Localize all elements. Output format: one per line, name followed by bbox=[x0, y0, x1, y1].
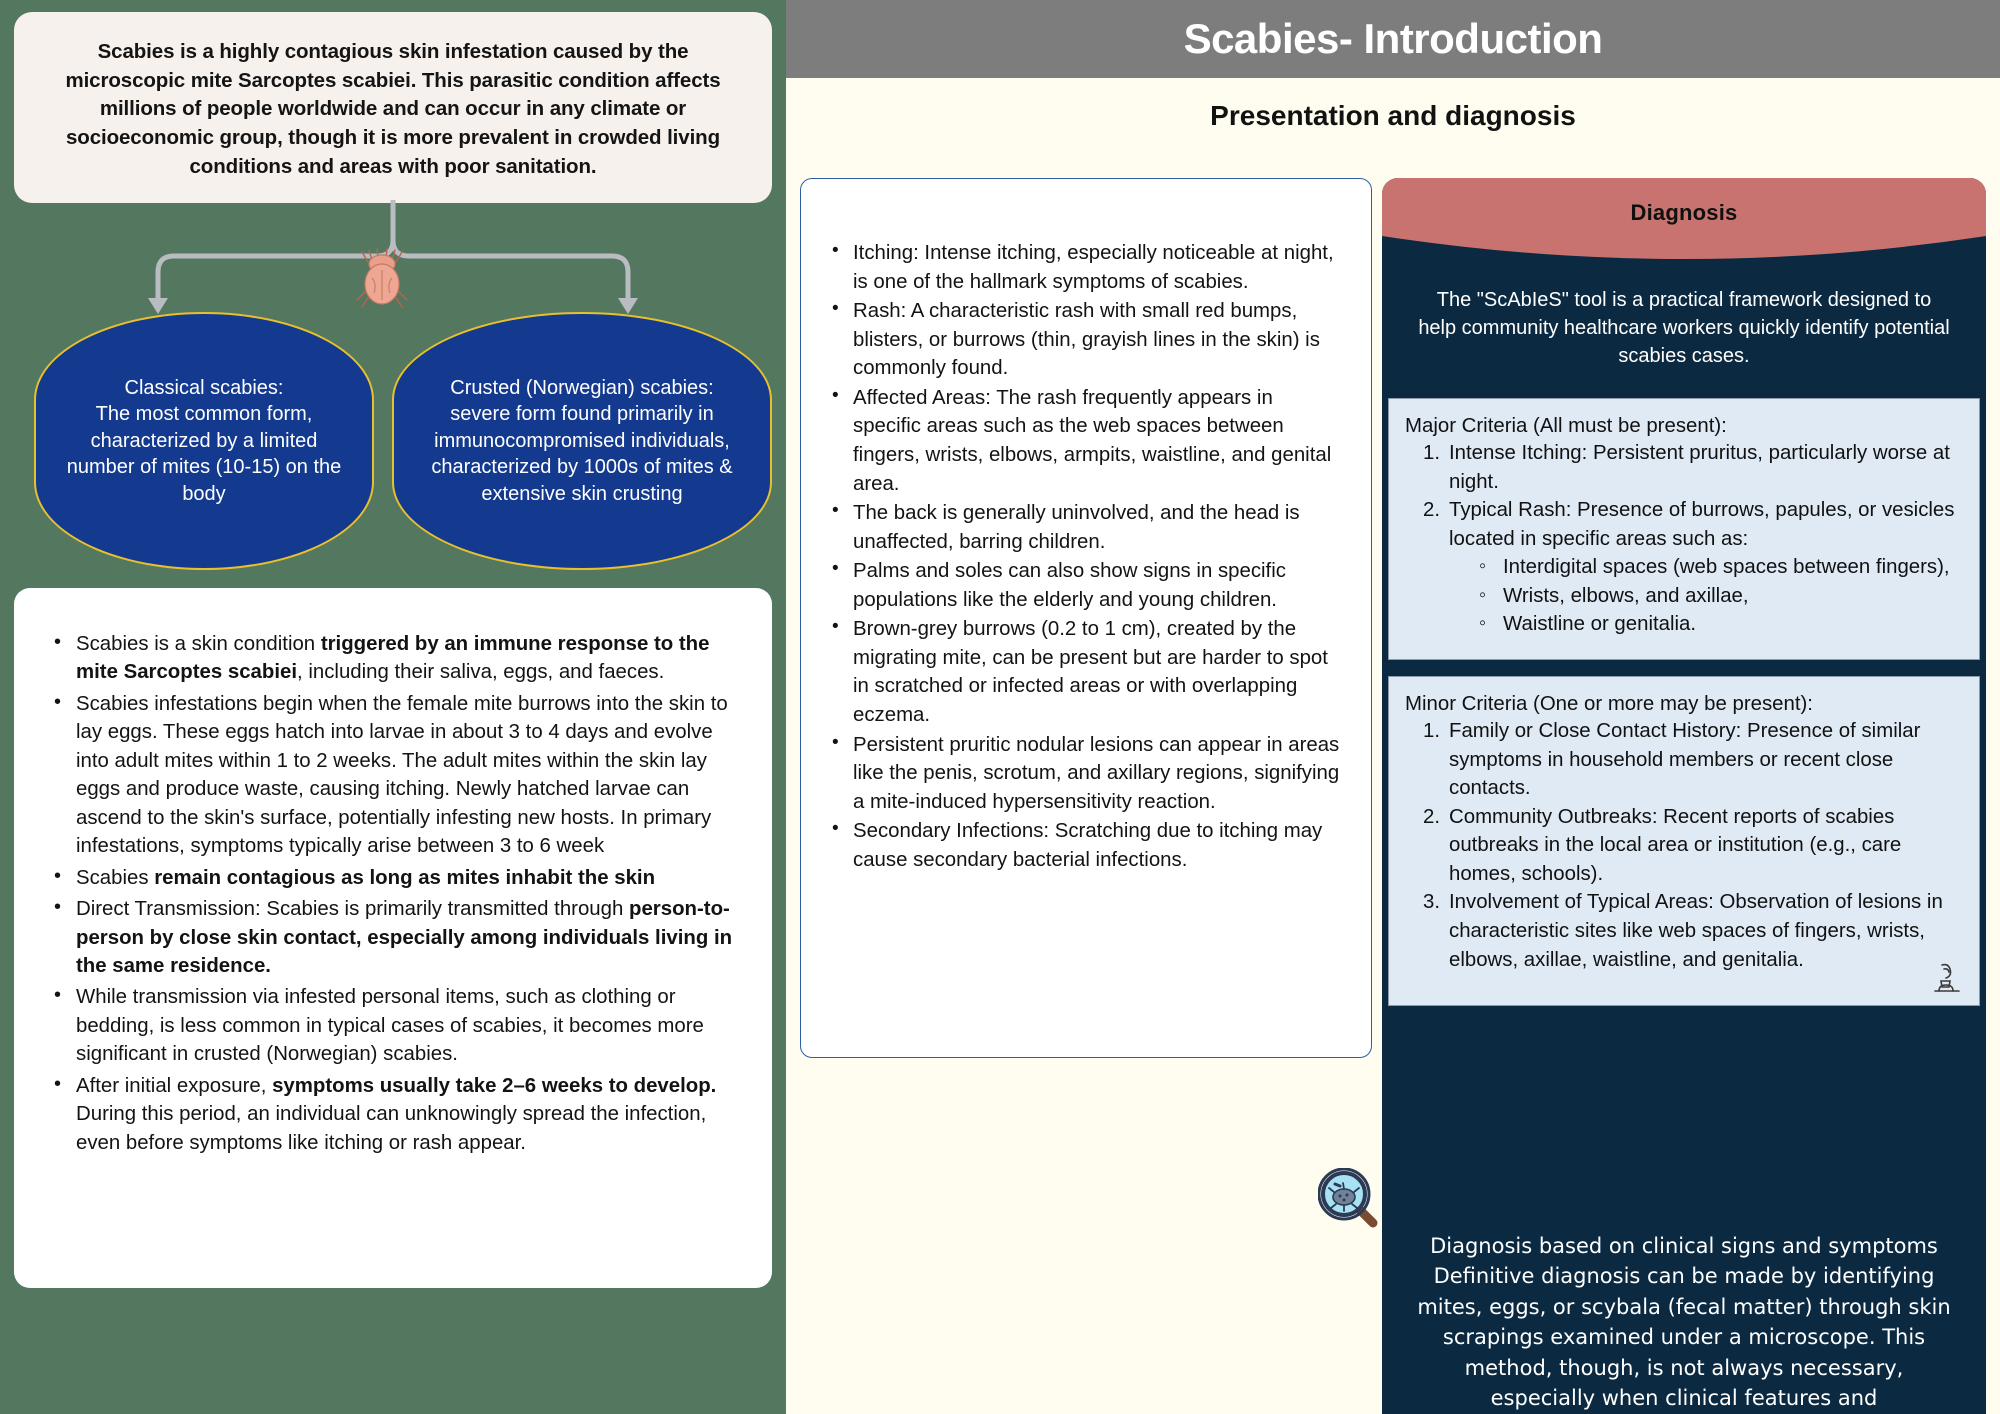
list-item: While transmission via infested personal… bbox=[48, 983, 742, 1068]
mite-icon bbox=[354, 248, 410, 310]
diagnosis-header-banner bbox=[1382, 178, 1986, 274]
oval-classical-text: Classical scabies: The most common form,… bbox=[58, 375, 350, 508]
major-criteria-list: Intense Itching: Persistent pruritus, pa… bbox=[1405, 439, 1961, 639]
intro-text: Scabies is a highly contagious skin infe… bbox=[40, 38, 746, 181]
microscope-icon bbox=[1929, 961, 1963, 997]
list-item: Rash: A characteristic rash with small r… bbox=[827, 297, 1345, 383]
list-item: After initial exposure, symptoms usually… bbox=[48, 1072, 742, 1157]
minor-criteria-block: Minor Criteria (One or more may be prese… bbox=[1388, 676, 1980, 1006]
presentation-card: Itching: Intense itching, especially not… bbox=[800, 178, 1372, 1058]
diagnosis-intro: The "ScAbIeS" tool is a practical framew… bbox=[1382, 274, 1986, 394]
list-item: Direct Transmission: Scabies is primaril… bbox=[48, 895, 742, 980]
list-item: Scabies infestations begin when the fema… bbox=[48, 690, 742, 861]
presentation-bullet-list: Itching: Intense itching, especially not… bbox=[827, 239, 1345, 874]
minor-criteria-heading: Minor Criteria (One or more may be prese… bbox=[1405, 693, 1961, 716]
diagnosis-header-title: Diagnosis bbox=[1382, 200, 1986, 226]
list-item: Palms and soles can also show signs in s… bbox=[827, 557, 1345, 614]
magnifier-microbe-icon bbox=[1318, 1168, 1380, 1230]
criteria-subitem: Wrists, elbows, and axillae, bbox=[1477, 582, 1961, 611]
diagnosis-footer: Diagnosis based on clinical signs and sy… bbox=[1382, 1205, 1986, 1414]
intro-card: Scabies is a highly contagious skin infe… bbox=[14, 12, 772, 203]
left-column: Scabies is a highly contagious skin infe… bbox=[0, 0, 786, 1414]
diagnosis-header: Diagnosis bbox=[1382, 178, 1986, 274]
list-item: Secondary Infections: Scratching due to … bbox=[827, 817, 1345, 874]
left-bullet-list: Scabies is a skin condition triggered by… bbox=[48, 630, 742, 1157]
list-item: Affected Areas: The rash frequently appe… bbox=[827, 384, 1345, 498]
criteria-item: Involvement of Typical Areas: Observatio… bbox=[1423, 888, 1961, 974]
oval-crusted-text: Crusted (Norwegian) scabies: severe form… bbox=[416, 375, 748, 508]
list-item: Scabies is a skin condition triggered by… bbox=[48, 630, 742, 687]
criteria-item: Intense Itching: Persistent pruritus, pa… bbox=[1423, 439, 1961, 496]
criteria-item: Community Outbreaks: Recent reports of s… bbox=[1423, 803, 1961, 889]
list-item: Itching: Intense itching, especially not… bbox=[827, 239, 1345, 296]
minor-criteria-list: Family or Close Contact History: Presenc… bbox=[1405, 717, 1961, 974]
list-item: The back is generally uninvolved, and th… bbox=[827, 499, 1345, 556]
diagnosis-panel: Diagnosis The "ScAbIeS" tool is a practi… bbox=[1382, 178, 1986, 1414]
list-item: Brown-grey burrows (0.2 to 1 cm), create… bbox=[827, 615, 1345, 729]
criteria-sublist: Interdigital spaces (web spaces between … bbox=[1449, 553, 1961, 639]
criteria-subitem: Waistline or genitalia. bbox=[1477, 610, 1961, 639]
right-area: Presentation and diagnosis Itching: Inte… bbox=[786, 78, 2000, 1414]
criteria-subitem: Interdigital spaces (web spaces between … bbox=[1477, 553, 1961, 582]
left-details-card: Scabies is a skin condition triggered by… bbox=[14, 588, 772, 1288]
criteria-item: Typical Rash: Presence of burrows, papul… bbox=[1423, 496, 1961, 639]
list-item: Scabies remain contagious as long as mit… bbox=[48, 864, 742, 892]
major-criteria-block: Major Criteria (All must be present): In… bbox=[1388, 398, 1980, 660]
major-criteria-heading: Major Criteria (All must be present): bbox=[1405, 415, 1961, 438]
page-title: Scabies- Introduction bbox=[786, 0, 2000, 78]
section-title: Presentation and diagnosis bbox=[786, 100, 2000, 132]
criteria-item: Family or Close Contact History: Presenc… bbox=[1423, 717, 1961, 803]
oval-crusted-scabies: Crusted (Norwegian) scabies: severe form… bbox=[392, 312, 772, 570]
oval-classical-scabies: Classical scabies: The most common form,… bbox=[34, 312, 374, 570]
list-item: Persistent pruritic nodular lesions can … bbox=[827, 731, 1345, 817]
infographic-page: Scabies is a highly contagious skin infe… bbox=[0, 0, 2000, 1414]
